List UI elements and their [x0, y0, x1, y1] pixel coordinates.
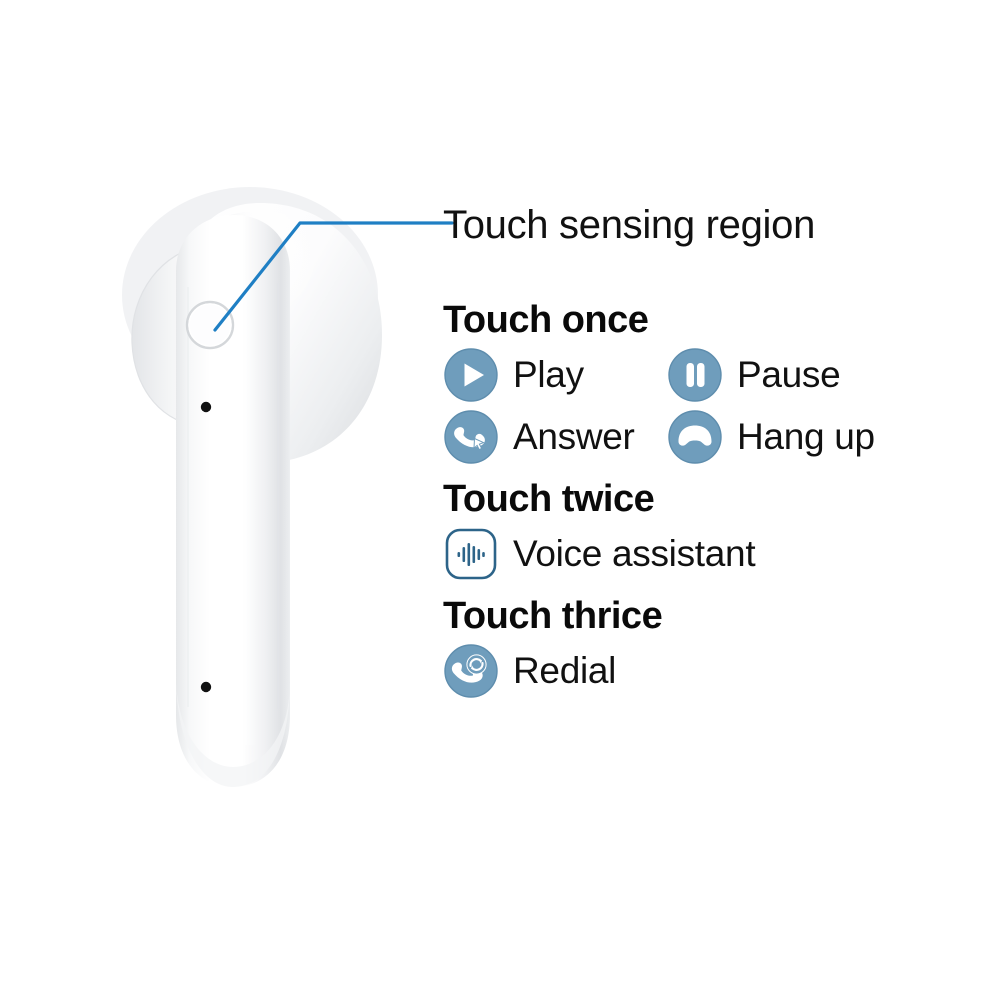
section-touch-twice: Touch twice Voice assi	[443, 479, 963, 582]
microphone-port-dot-lower	[201, 682, 211, 692]
voice-assistant-icon[interactable]	[443, 526, 499, 582]
section-touch-once: Touch once Play Pause	[443, 300, 963, 465]
action-label-voice-assistant: Voice assistant	[513, 533, 755, 575]
pause-icon[interactable]	[667, 347, 723, 403]
heading-touch-thrice: Touch thrice	[443, 596, 963, 637]
action-row-call: Answer Hang up	[443, 409, 963, 465]
play-icon[interactable]	[443, 347, 499, 403]
action-item-hang-up[interactable]: Hang up	[667, 409, 875, 465]
callout-label: Touch sensing region	[443, 203, 815, 248]
touch-circle-outline[interactable]	[187, 302, 233, 348]
redial-icon[interactable]	[443, 643, 499, 699]
action-label-answer: Answer	[513, 416, 635, 458]
earbud-illustration	[110, 175, 400, 825]
heading-touch-once: Touch once	[443, 300, 963, 341]
action-item-play[interactable]: Play	[443, 347, 667, 403]
earbud-touch-controls-diagram: Touch sensing region Touch once Play	[0, 0, 1000, 1000]
instructions-panel: Touch once Play Pause	[443, 300, 963, 709]
action-item-pause[interactable]: Pause	[667, 347, 840, 403]
action-row-playback: Play Pause	[443, 347, 963, 403]
answer-call-icon[interactable]	[443, 409, 499, 465]
action-label-redial: Redial	[513, 650, 616, 692]
action-row-voice: Voice assistant	[443, 526, 963, 582]
heading-touch-twice: Touch twice	[443, 479, 963, 520]
action-item-voice-assistant[interactable]: Voice assistant	[443, 526, 755, 582]
action-label-play: Play	[513, 354, 584, 396]
action-item-redial[interactable]: Redial	[443, 643, 616, 699]
earbud-stem-highlight	[198, 285, 258, 745]
action-label-pause: Pause	[737, 354, 840, 396]
action-row-redial: Redial	[443, 643, 963, 699]
section-touch-thrice: Touch thrice	[443, 596, 963, 699]
action-item-answer[interactable]: Answer	[443, 409, 667, 465]
hang-up-icon[interactable]	[667, 409, 723, 465]
microphone-port-dot-upper	[201, 402, 211, 412]
action-label-hang-up: Hang up	[737, 416, 875, 458]
